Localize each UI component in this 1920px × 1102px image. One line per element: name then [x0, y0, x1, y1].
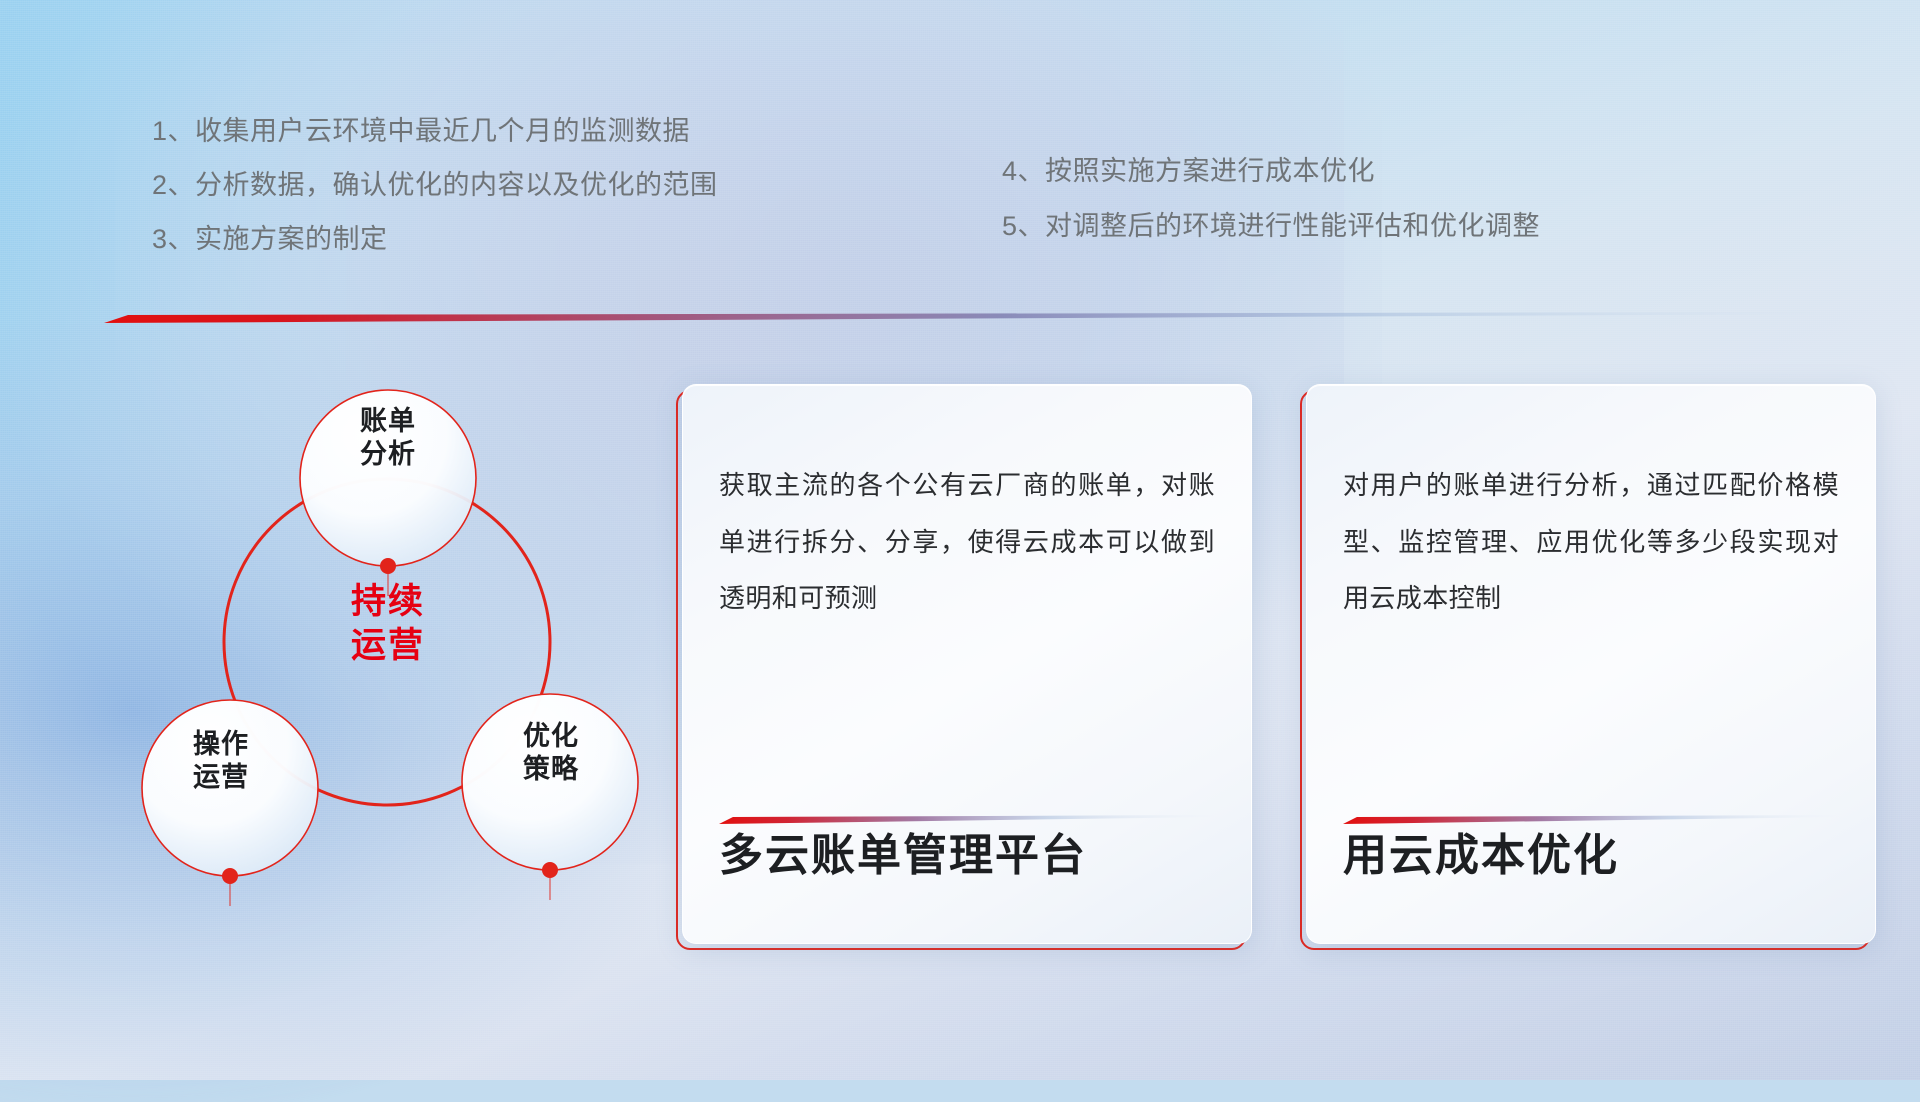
divider-shape: [104, 312, 1834, 324]
card-title: 多云账单管理平台: [719, 819, 1087, 883]
connector-dot-right: [542, 862, 558, 878]
bubble-label-line-1: 优化: [476, 720, 626, 753]
feature-card-multi-cloud-billing-platform[interactable]: 获取主流的各个公有云厂商的账单，对账单进行拆分、分享，使得云成本可以做到透明和可…: [682, 384, 1252, 944]
card-title: 用云成本优化: [1343, 819, 1619, 883]
step-item-3: 3、实施方案的制定: [152, 226, 718, 253]
bubble-label-line-2: 分析: [313, 438, 463, 471]
venn-center-line-1: 持续: [298, 580, 478, 624]
continuous-operation-diagram: 账单 分析 操作 运营 优化 策略 持续 运营: [98, 350, 658, 950]
step-item-4: 4、按照实施方案进行成本优化: [1002, 158, 1540, 185]
step-item-5: 5、对调整后的环境进行性能评估和优化调整: [1002, 213, 1540, 240]
steps-list-left: 1、收集用户云环境中最近几个月的监测数据 2、分析数据，确认优化的内容以及优化的…: [152, 118, 718, 280]
card-description: 对用户的账单进行分析，通过匹配价格模型、监控管理、应用优化等多少段实现对用云成本…: [1343, 457, 1839, 627]
feature-card-cloud-cost-optimization[interactable]: 对用户的账单进行分析，通过匹配价格模型、监控管理、应用优化等多少段实现对用云成本…: [1306, 384, 1876, 944]
card-surface: 对用户的账单进行分析，通过匹配价格模型、监控管理、应用优化等多少段实现对用云成本…: [1306, 384, 1876, 944]
venn-center-line-2: 运营: [298, 624, 478, 668]
connector-dot-left: [222, 868, 238, 884]
bubble-label-operation-ops: 操作 运营: [146, 728, 296, 794]
card-surface: 获取主流的各个公有云厂商的账单，对账单进行拆分、分享，使得云成本可以做到透明和可…: [682, 384, 1252, 944]
step-item-1: 1、收集用户云环境中最近几个月的监测数据: [152, 118, 718, 145]
step-item-2: 2、分析数据，确认优化的内容以及优化的范围: [152, 172, 718, 199]
bubble-label-billing-analysis: 账单 分析: [313, 405, 463, 471]
venn-center-label: 持续 运营: [298, 580, 478, 668]
bubble-label-line-1: 账单: [313, 405, 463, 438]
connector-dot-top: [380, 558, 396, 574]
card-description: 获取主流的各个公有云厂商的账单，对账单进行拆分、分享，使得云成本可以做到透明和可…: [719, 457, 1215, 627]
section-divider: [104, 312, 1834, 324]
steps-list-right: 4、按照实施方案进行成本优化 5、对调整后的环境进行性能评估和优化调整: [1002, 158, 1540, 268]
bubble-label-optimize-policy: 优化 策略: [476, 720, 626, 786]
bubble-label-line-2: 运营: [146, 761, 296, 794]
bubble-label-line-2: 策略: [476, 753, 626, 786]
bubble-label-line-1: 操作: [146, 728, 296, 761]
